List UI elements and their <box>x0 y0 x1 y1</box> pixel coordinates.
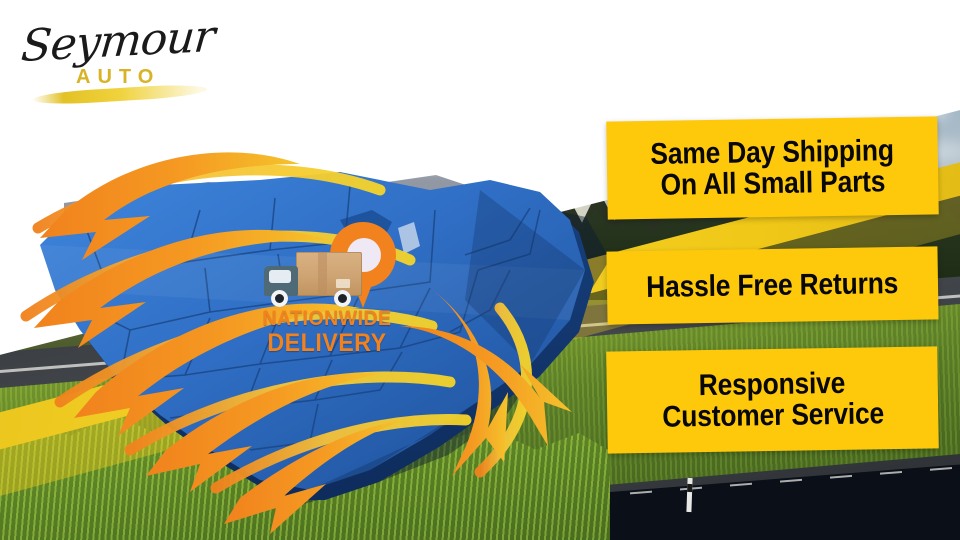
cargo-box <box>296 252 362 296</box>
feature-2-line-1: Hassle Free Returns <box>646 268 898 303</box>
box-tape <box>318 252 327 296</box>
truck-wheel <box>334 290 351 307</box>
delivery-truck-icon <box>264 248 374 310</box>
box-label <box>336 279 350 288</box>
feature-box-same-day-shipping[interactable]: Same Day Shipping On All Small Parts <box>606 116 938 219</box>
headline-line-2: DELIVERY <box>257 331 397 356</box>
brand-logo[interactable]: Seymour AUTO <box>16 10 216 102</box>
truck-window <box>269 270 291 283</box>
nationwide-delivery-headline: NATIONWIDE DELIVERY <box>252 308 402 356</box>
feature-1-line-2: On All Small Parts <box>660 166 885 201</box>
brand-script-name: Seymour <box>19 11 216 72</box>
roadside-marker-post <box>686 478 692 512</box>
feature-3-line-2: Customer Service <box>662 398 884 433</box>
truck-wheel <box>271 290 288 307</box>
feature-3-line-1: Responsive <box>699 368 846 401</box>
feature-box-hassle-free-returns[interactable]: Hassle Free Returns <box>606 246 938 324</box>
headline-line-1: NATIONWIDE <box>257 308 397 329</box>
promo-banner: NATIONWIDE DELIVERY Seymour AUTO Same Da… <box>0 0 960 540</box>
feature-box-responsive-customer-service[interactable]: Responsive Customer Service <box>606 346 939 453</box>
